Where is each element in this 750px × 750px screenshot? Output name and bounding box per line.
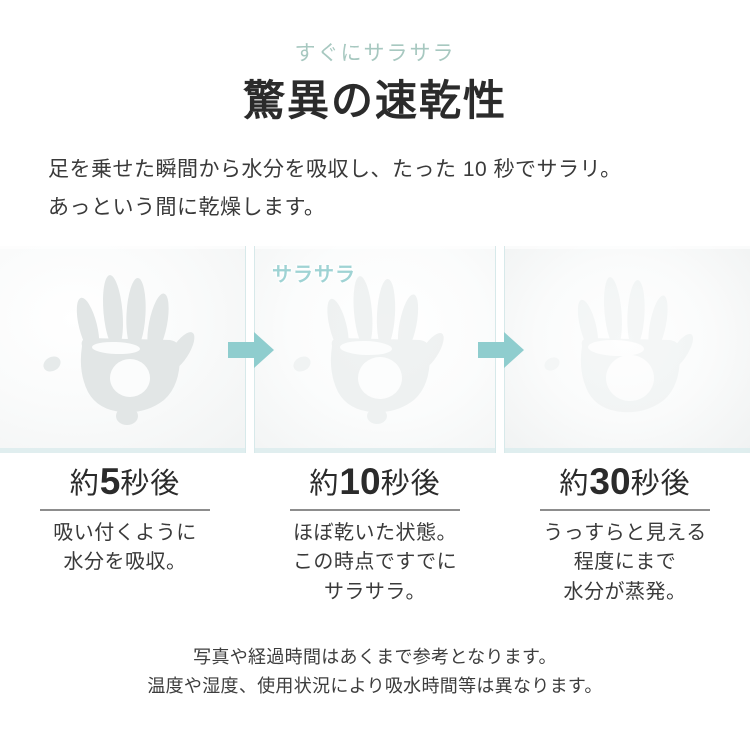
caption-rule <box>40 509 210 511</box>
caption-row: 約5秒後 吸い付くように 水分を吸収。 約10秒後 ほぼ乾いた状態。 この時点で… <box>0 462 750 607</box>
eyebrow-text: すぐにサラサラ <box>0 42 750 65</box>
lead-line-2: あっという間に乾燥します。 <box>48 189 750 226</box>
caption-prefix: 約 <box>70 468 100 500</box>
photo-panel-10-seconds: サラサラ <box>250 246 500 453</box>
caption-column-30-seconds: 約30秒後 うっすらと見える 程度にまで 水分が蒸発。 <box>500 462 750 607</box>
caption-body-line-3: 水分が蒸発。 <box>500 578 750 608</box>
photo-panel-30-seconds <box>500 246 750 453</box>
caption-number: 5 <box>100 461 121 502</box>
panel-top-edge <box>0 246 250 249</box>
caption-column-10-seconds: 約10秒後 ほぼ乾いた状態。 この時点ですでに サラサラ。 <box>250 462 500 607</box>
caption-prefix: 約 <box>309 468 339 500</box>
caption-body-line-2: この時点ですでに <box>250 548 500 578</box>
panel-top-edge <box>250 246 500 249</box>
panel-bottom-edge <box>500 448 750 453</box>
handprint-icon-stage-3 <box>530 260 720 440</box>
footnote: 写真や経過時間はあくまで参考となります。 温度や湿度、使用状況により吸水時間等は… <box>0 643 750 701</box>
caption-number: 30 <box>589 461 630 502</box>
footnote-line-1: 写真や経過時間はあくまで参考となります。 <box>0 643 750 672</box>
footnote-line-2: 温度や湿度、使用状況により吸水時間等は異なります。 <box>0 672 750 701</box>
photo-panel-5-seconds <box>0 246 250 453</box>
right-arrow-icon <box>228 330 274 370</box>
caption-title: 約30秒後 <box>500 462 750 503</box>
panel-top-edge <box>500 246 750 249</box>
caption-prefix: 約 <box>559 468 589 500</box>
caption-rule <box>540 509 710 511</box>
right-arrow-icon <box>478 330 524 370</box>
caption-body-line-2: 程度にまで <box>500 548 750 578</box>
caption-body-line-1: ほぼ乾いた状態。 <box>250 519 500 549</box>
panel-bottom-edge <box>0 448 250 453</box>
caption-body-line-1: 吸い付くように <box>0 519 250 549</box>
caption-body-line-1: うっすらと見える <box>500 519 750 549</box>
caption-title: 約10秒後 <box>250 462 500 503</box>
caption-suffix: 秒後 <box>631 468 691 500</box>
caption-body: 吸い付くように 水分を吸収。 <box>0 519 250 578</box>
lead-line-1: 足を乗せた瞬間から水分を吸収し、たった 10 秒でサラリ。 <box>48 151 750 188</box>
caption-body-line-3: サラサラ。 <box>250 578 500 608</box>
page-title: 驚異の速乾性 <box>0 77 750 125</box>
handprint-icon-stage-1 <box>30 260 220 440</box>
caption-body-line-2: 水分を吸収。 <box>0 548 250 578</box>
caption-rule <box>290 509 460 511</box>
caption-number: 10 <box>339 461 380 502</box>
lead-paragraph: 足を乗せた瞬間から水分を吸収し、たった 10 秒でサラリ。 あっという間に乾燥し… <box>0 151 750 226</box>
photo-comparison-strip: サラサラ <box>0 246 750 453</box>
caption-suffix: 秒後 <box>120 468 180 500</box>
caption-suffix: 秒後 <box>381 468 441 500</box>
caption-body: うっすらと見える 程度にまで 水分が蒸発。 <box>500 519 750 608</box>
caption-body: ほぼ乾いた状態。 この時点ですでに サラサラ。 <box>250 519 500 608</box>
caption-title: 約5秒後 <box>0 462 250 503</box>
sarasara-label: サラサラ <box>272 258 356 287</box>
panel-bottom-edge <box>250 448 500 453</box>
caption-column-5-seconds: 約5秒後 吸い付くように 水分を吸収。 <box>0 462 250 607</box>
page-header: すぐにサラサラ 驚異の速乾性 <box>0 0 750 125</box>
